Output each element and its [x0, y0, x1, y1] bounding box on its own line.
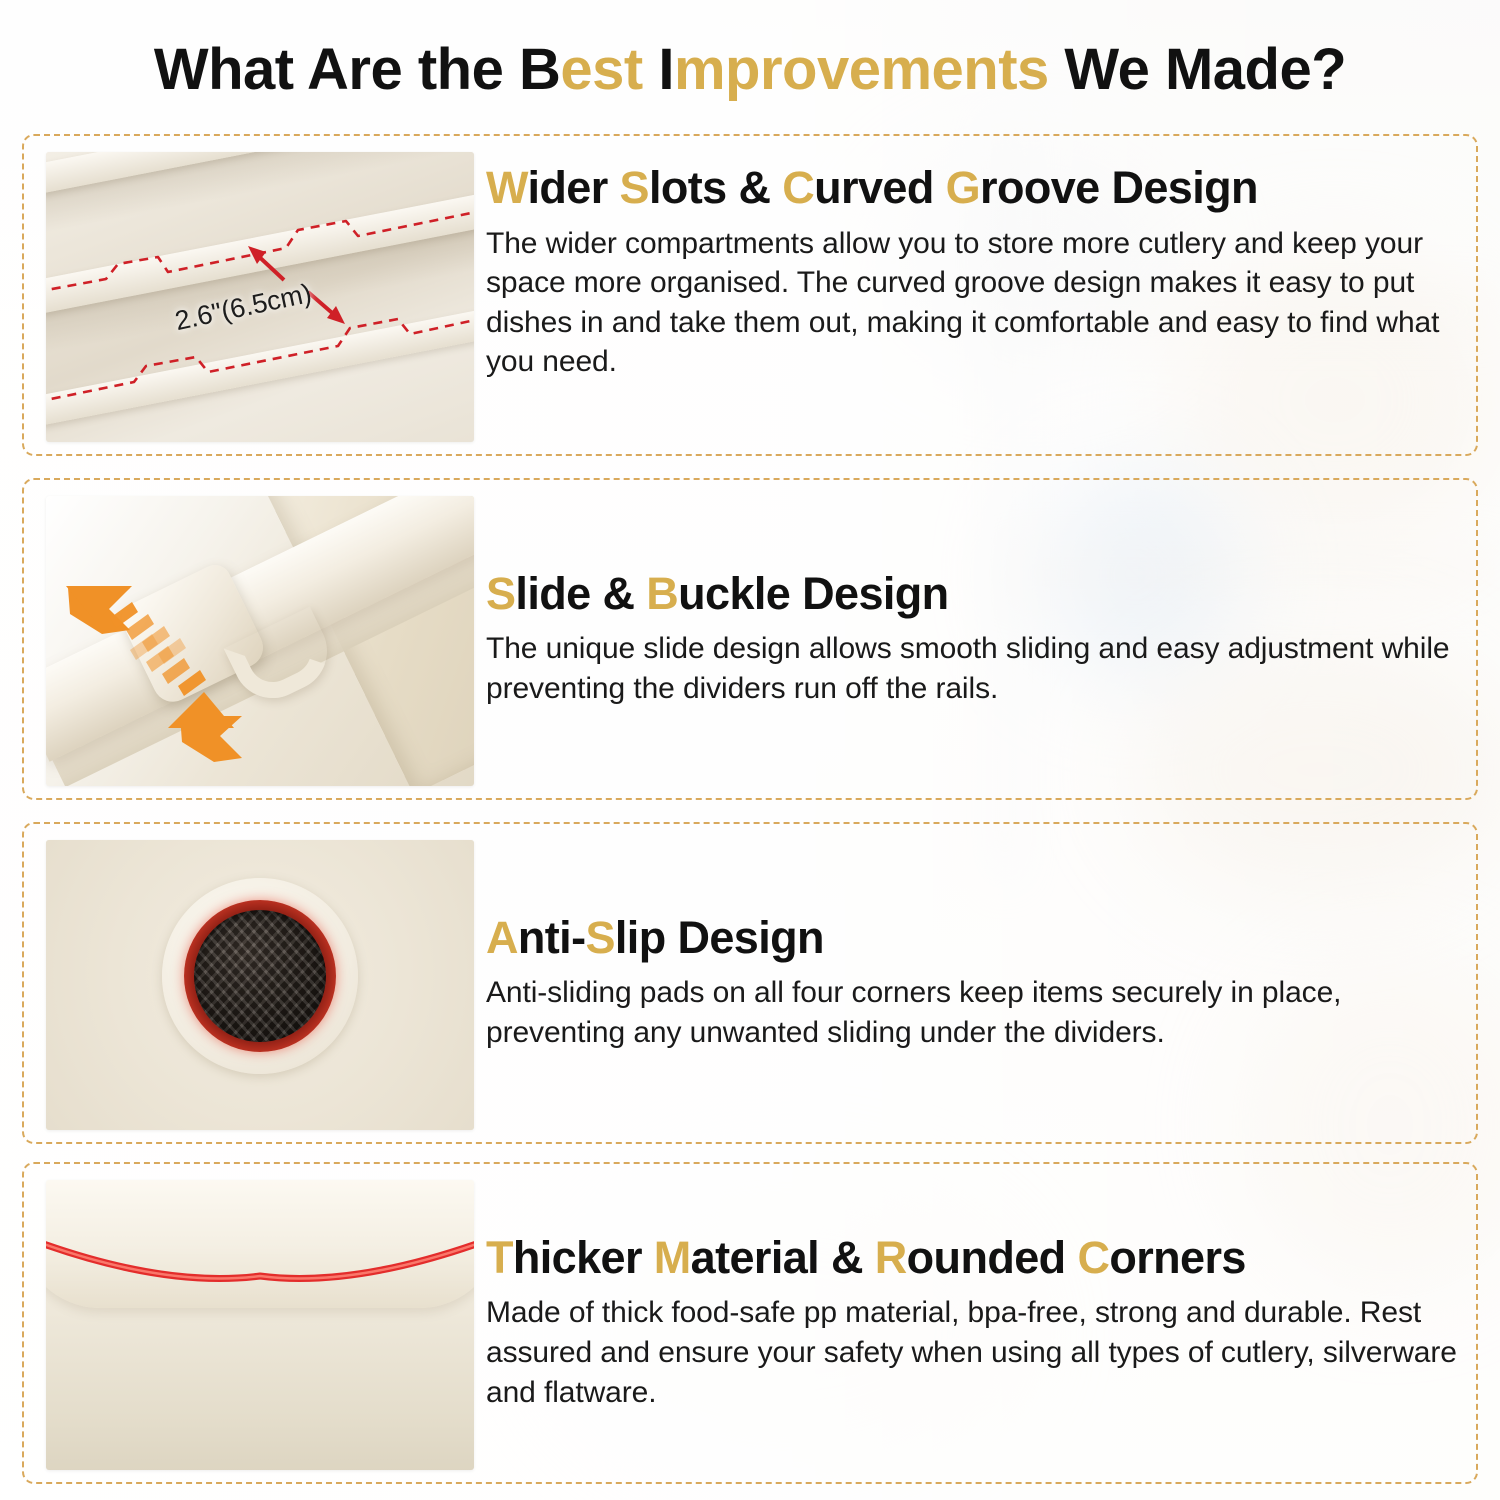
feature-body-thicker-material: Made of thick food-safe pp material, bpa…	[486, 1293, 1460, 1412]
thumbnail-thicker-material	[46, 1180, 474, 1470]
page-title: What Are the Best Improvements We Made?	[0, 36, 1500, 103]
feature-body-slide-buckle: The unique slide design allows smooth sl…	[486, 629, 1460, 708]
red-rim-highlight-overlay	[46, 1180, 474, 1470]
heading-char: M	[654, 1232, 691, 1283]
feature-heading-wider-slots: Wider Slots & Curved Groove Design	[486, 164, 1460, 212]
heading-part: nti-	[518, 912, 586, 963]
thumbnail-slide-buckle	[46, 496, 474, 786]
feature-heading-slide-buckle: Slide & Buckle Design	[486, 570, 1460, 618]
heading-part: orners	[1109, 1232, 1245, 1283]
orange-slide-arrows-overlay	[46, 496, 474, 786]
infographic-page: What Are the Best Improvements We Made?	[0, 0, 1500, 1500]
title-segment-3: I	[658, 37, 674, 102]
heading-part: hicker	[513, 1232, 654, 1283]
feature-panel-anti-slip: Anti-Slip Design Anti-sliding pads on al…	[22, 822, 1478, 1144]
heading-char: B	[646, 568, 678, 619]
textured-rubber-pad	[194, 910, 326, 1042]
panel-text-slide-buckle: Slide & Buckle Design The unique slide d…	[486, 480, 1460, 798]
feature-heading-anti-slip: Anti-Slip Design	[486, 914, 1460, 962]
rounded-corner-thickness-photo	[46, 1180, 474, 1470]
feature-heading-thicker-material: Thicker Material & Rounded Corners	[486, 1234, 1460, 1282]
panel-text-wider-slots: Wider Slots & Curved Groove Design The w…	[486, 136, 1460, 454]
title-segment-2: est	[560, 37, 658, 102]
heading-char: G	[946, 162, 980, 213]
heading-part: lip Design	[615, 912, 824, 963]
heading-char: C	[1077, 1232, 1109, 1283]
title-segment-1: What Are the B	[154, 37, 561, 102]
heading-part: roove Design	[980, 162, 1258, 213]
thumbnail-wider-slots: 2.6"(6.5cm)	[46, 152, 474, 442]
title-segment-5: We Made?	[1049, 37, 1346, 102]
heading-char: R	[875, 1232, 907, 1283]
heading-char: W	[486, 162, 527, 213]
heading-char: A	[486, 912, 518, 963]
title-segment-4: mprovements	[674, 37, 1049, 102]
heading-part: urved	[814, 162, 945, 213]
heading-char: T	[486, 1232, 513, 1283]
anti-slip-pad-photo	[46, 840, 474, 1130]
feature-body-anti-slip: Anti-sliding pads on all four corners ke…	[486, 973, 1460, 1052]
heading-char: S	[620, 162, 649, 213]
slide-buckle-rail-photo	[46, 496, 474, 786]
heading-part: ider	[527, 162, 619, 213]
heading-part: lide &	[515, 568, 646, 619]
heading-part: ounded	[907, 1232, 1078, 1283]
panel-text-anti-slip: Anti-Slip Design Anti-sliding pads on al…	[486, 824, 1460, 1142]
thumbnail-anti-slip	[46, 840, 474, 1130]
heading-char: S	[585, 912, 614, 963]
panel-text-thicker-material: Thicker Material & Rounded Corners Made …	[486, 1164, 1460, 1482]
heading-part: uckle Design	[678, 568, 948, 619]
heading-char: C	[782, 162, 814, 213]
cutlery-tray-compartment-photo: 2.6"(6.5cm)	[46, 152, 474, 442]
feature-panel-thicker-material: Thicker Material & Rounded Corners Made …	[22, 1162, 1478, 1484]
feature-panel-slide-buckle: Slide & Buckle Design The unique slide d…	[22, 478, 1478, 800]
heading-char: S	[486, 568, 515, 619]
feature-panel-wider-slots: 2.6"(6.5cm) Wider Slots & Curved Groove …	[22, 134, 1478, 456]
heading-part: aterial &	[691, 1232, 875, 1283]
heading-part: lots &	[649, 162, 782, 213]
feature-body-wider-slots: The wider compartments allow you to stor…	[486, 224, 1460, 382]
